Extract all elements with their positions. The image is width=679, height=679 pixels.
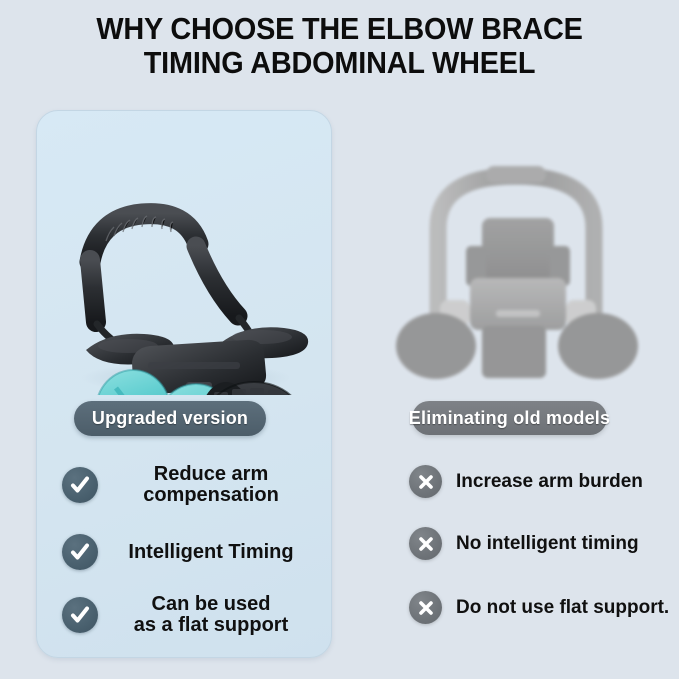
list-item: Reduce arm compensation (62, 464, 306, 506)
cross-icon (409, 591, 442, 624)
cross-icon (409, 527, 442, 560)
badge-eliminating-old-models: Eliminating old models (412, 401, 607, 435)
list-item-label: Increase arm burden (456, 471, 643, 492)
cross-icon (409, 465, 442, 498)
list-item: Increase arm burden (409, 465, 643, 498)
list-item-label: Intelligent Timing (116, 542, 306, 563)
list-item-label: Do not use flat support. (456, 597, 669, 618)
badge-upgraded-version: Upgraded version (74, 401, 266, 436)
page-title: WHY CHOOSE THE ELBOW BRACE TIMING ABDOMI… (0, 12, 679, 80)
check-icon (62, 467, 98, 503)
list-item: No intelligent timing (409, 527, 639, 560)
list-item: Intelligent Timing (62, 534, 306, 570)
list-item-line-2: as a flat support (134, 614, 288, 636)
title-line-1: WHY CHOOSE THE ELBOW BRACE (24, 12, 655, 46)
list-item-label: Reduce arm compensation (116, 464, 306, 506)
list-item-line-1: Can be used (152, 593, 271, 615)
list-item-line-1: Intelligent Timing (128, 541, 293, 563)
list-item-label: Can be used as a flat support (116, 594, 306, 636)
list-item: Can be used as a flat support (62, 594, 306, 636)
list-item-line-2: compensation (143, 484, 279, 506)
check-icon (62, 597, 98, 633)
product-image-old-model (378, 118, 658, 388)
list-item-label: No intelligent timing (456, 533, 639, 554)
list-item-line-1: Reduce arm (154, 463, 269, 485)
product-image-upgraded (36, 110, 330, 395)
title-line-2: TIMING ABDOMINAL WHEEL (24, 46, 655, 80)
list-item: Do not use flat support. (409, 591, 669, 624)
check-icon (62, 534, 98, 570)
